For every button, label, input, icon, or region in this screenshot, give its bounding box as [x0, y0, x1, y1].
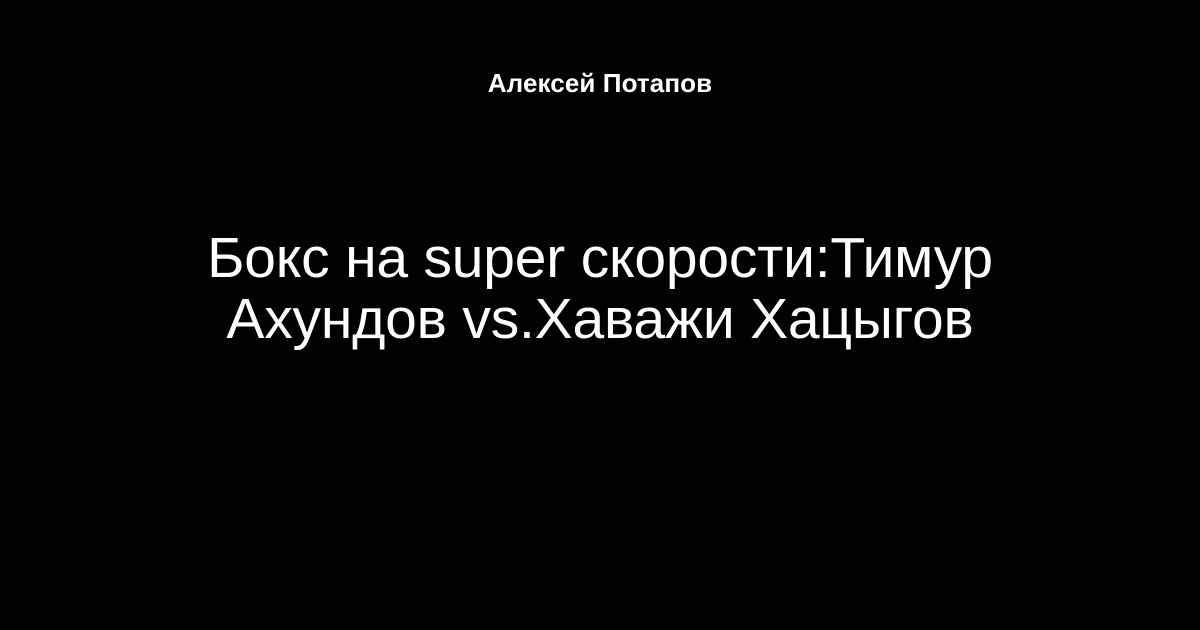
preview-card: Алексей Потапов Бокс на super скорости:Т… — [0, 0, 1200, 630]
author-name: Алексей Потапов — [488, 66, 712, 100]
page-title: Бокс на super скорости:Тимур Ахундов vs.… — [200, 228, 1000, 350]
headline-block: Бокс на super скорости:Тимур Ахундов vs.… — [200, 228, 1000, 350]
author-row: Алексей Потапов — [0, 66, 1200, 105]
